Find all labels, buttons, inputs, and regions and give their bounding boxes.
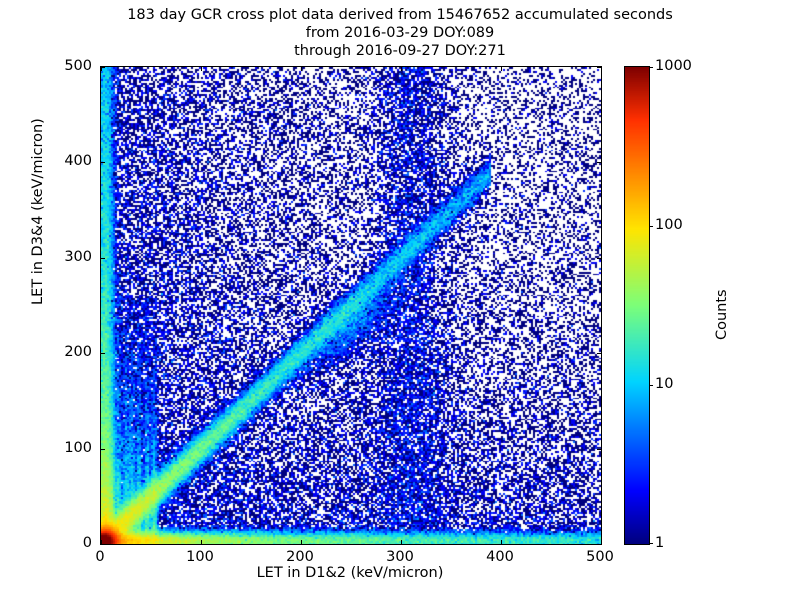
title-line-1: 183 day GCR cross plot data derived from… [0, 6, 800, 24]
y-tick-label: 100 [40, 440, 92, 456]
title-line-2: from 2016-03-29 DOY:089 [0, 24, 800, 42]
x-tick-label: 300 [386, 549, 414, 565]
x-axis-label: LET in D1&2 (keV/micron) [100, 565, 600, 581]
y-tick [101, 353, 105, 354]
x-tick-top [301, 67, 302, 71]
x-tick-label: 200 [286, 549, 314, 565]
density-heatmap [101, 67, 601, 544]
y-tick-label: 200 [40, 344, 92, 360]
x-tick [501, 540, 502, 544]
x-tick [401, 540, 402, 544]
y-tick [101, 67, 105, 68]
y-tick [101, 449, 105, 450]
y-tick-right [597, 67, 601, 68]
y-tick [101, 162, 105, 163]
y-tick-label: 400 [40, 153, 92, 169]
colorbar-tick-label: 100 [655, 217, 683, 233]
y-tick-right [597, 162, 601, 163]
y-tick [101, 544, 105, 545]
colorbar-tick [649, 226, 653, 227]
x-tick [301, 540, 302, 544]
colorbar-tick [649, 543, 653, 544]
x-tick-top [501, 67, 502, 71]
figure-canvas: 183 day GCR cross plot data derived from… [0, 0, 800, 600]
colorbar-tick-label: 1 [655, 535, 664, 551]
y-tick-right [597, 353, 601, 354]
colorbar-tick-label: 10 [655, 376, 673, 392]
x-tick-top [401, 67, 402, 71]
y-tick [101, 258, 105, 259]
x-tick-top [201, 67, 202, 71]
plot-area[interactable] [100, 66, 602, 545]
colorbar-gradient [625, 67, 649, 544]
x-tick [201, 540, 202, 544]
colorbar-tick [649, 385, 653, 386]
chart-title: 183 day GCR cross plot data derived from… [0, 6, 800, 60]
x-tick-label: 400 [486, 549, 514, 565]
y-tick-label: 0 [40, 535, 92, 551]
y-axis-label: LET in D3&4 (keV/micron) [30, 118, 46, 305]
colorbar[interactable] [624, 66, 650, 545]
x-tick-top [601, 67, 602, 71]
y-tick-label: 500 [40, 58, 92, 74]
y-tick-right [597, 544, 601, 545]
x-tick-label: 0 [95, 549, 104, 565]
y-tick-right [597, 258, 601, 259]
x-tick-label: 100 [186, 549, 214, 565]
colorbar-label: Counts [714, 289, 730, 340]
colorbar-tick-label: 1000 [655, 58, 692, 74]
x-tick [601, 540, 602, 544]
y-tick-label: 300 [40, 249, 92, 265]
x-tick-label: 500 [586, 549, 614, 565]
y-tick-right [597, 449, 601, 450]
colorbar-tick [649, 67, 653, 68]
